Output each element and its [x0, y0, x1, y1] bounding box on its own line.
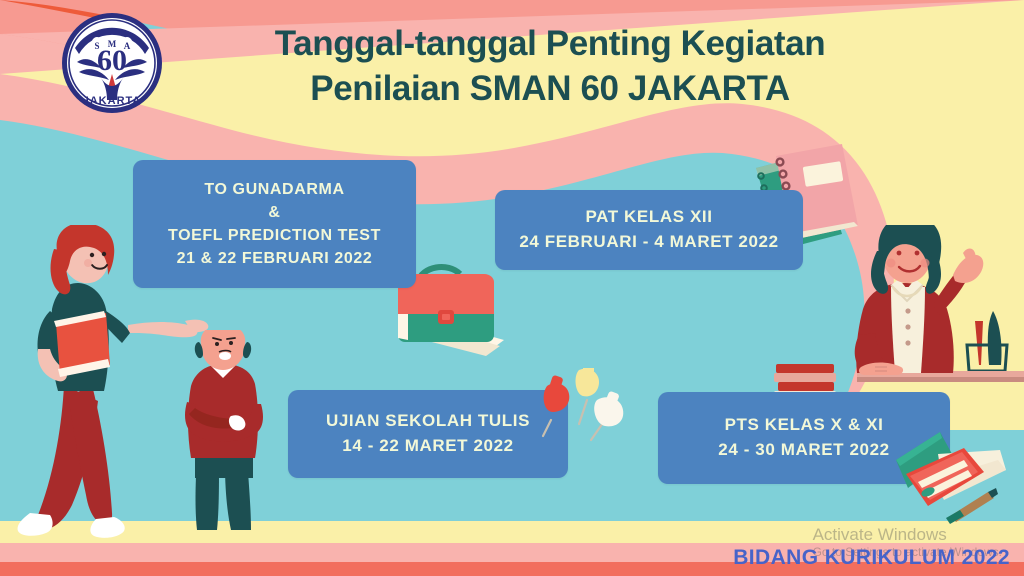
title-line-2: Penilaian SMAN 60 JAKARTA: [200, 67, 900, 112]
card-line: 24 - 30 MARET 2022: [718, 438, 889, 463]
card-line: 24 FEBRUARI - 4 MARET 2022: [519, 230, 778, 255]
three-pushpins: [533, 368, 638, 463]
card-line: UJIAN SEKOLAH TULIS: [326, 409, 530, 434]
pushpin-white: [591, 391, 623, 440]
card-line: &: [268, 201, 280, 224]
card-pat-kelas-xii[interactable]: PAT KELAS XII 24 FEBRUARI - 4 MARET 2022: [495, 190, 803, 270]
logo-bottom-text: JAKARTA: [83, 95, 142, 107]
school-logo: S M A 60 JAKARTA: [57, 4, 167, 122]
card-line: 14 - 22 MARET 2022: [342, 434, 513, 459]
poster-canvas: S M A 60 JAKARTA Tanggal-tanggal Penting…: [0, 0, 1024, 576]
logo-number: 60: [97, 44, 127, 77]
older-man-arms-crossed: [165, 330, 300, 555]
card-line: TO GUNADARMA: [204, 178, 344, 201]
card-ujian-sekolah-tulis[interactable]: UJIAN SEKOLAH TULIS 14 - 22 MARET 2022: [288, 390, 568, 478]
card-line: TOEFL PREDICTION TEST: [168, 224, 381, 247]
sman-60-jakarta-logo-icon: S M A 60 JAKARTA: [57, 4, 167, 122]
card-to-gunadarma[interactable]: TO GUNADARMA & TOEFL PREDICTION TEST 21 …: [133, 160, 416, 288]
card-line: 21 & 22 FEBRUARI 2022: [177, 247, 373, 270]
open-pencil-case: [888, 418, 1024, 533]
footer-department-label: BIDANG KURIKULUM 2022: [733, 546, 1010, 570]
poster-title: Tanggal-tanggal Penting Kegiatan Penilai…: [200, 22, 900, 112]
card-line: PTS KELAS X & XI: [725, 413, 884, 438]
card-line: PAT KELAS XII: [585, 205, 712, 230]
pushpin-red: [543, 375, 569, 436]
title-line-1: Tanggal-tanggal Penting Kegiatan: [200, 22, 900, 67]
